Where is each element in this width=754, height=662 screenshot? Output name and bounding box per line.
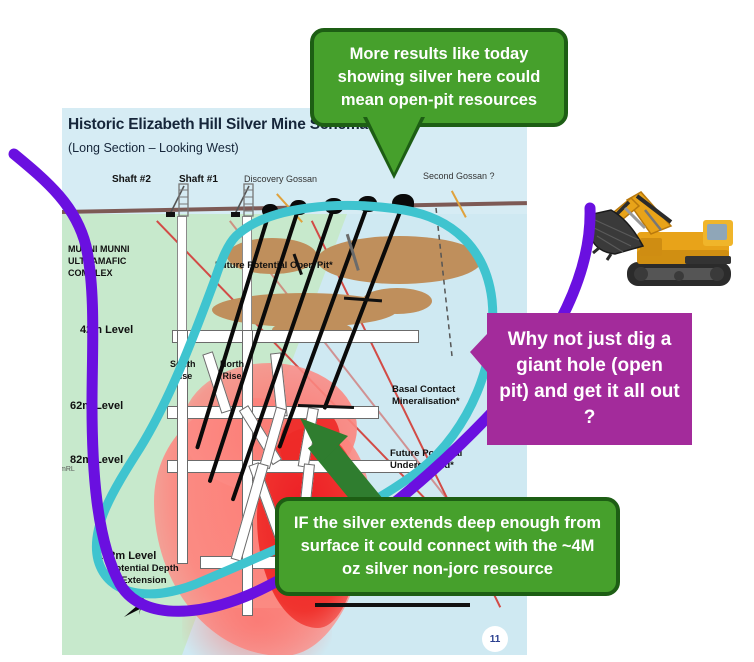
level-82m-drive (167, 460, 417, 473)
level-label-82m: 82m Level (70, 454, 123, 466)
future-underground-label: Future Potential Underground* (390, 448, 462, 472)
shaft-2-label: Shaft #2 (112, 174, 151, 185)
depth-extension-label: Potential Depth Extension (109, 563, 179, 587)
second-gossan-label: Second Gossan ? (423, 171, 495, 181)
basal-contact-label: Basal Contact Mineralisation* (392, 384, 460, 408)
slide-subtitle: (Long Section – Looking West) (68, 141, 239, 155)
excavator-image (585, 180, 745, 295)
level-label-42m: 42m Level (80, 324, 133, 336)
page-number-badge: 11 (482, 626, 508, 652)
projected-drill-hole (434, 208, 456, 358)
elevation-axis-label: mRL (62, 466, 75, 473)
lower-rise (242, 562, 253, 616)
callout-why-not-dig[interactable]: Why not just dig a giant hole (open pit)… (487, 313, 692, 445)
level-label-62m: 62m Level (70, 400, 123, 412)
host-complex-label: MUNNI MUNNI ULTRAMAFIC COMPLEX (68, 243, 130, 279)
top-callout-tail (367, 117, 421, 173)
level-label-102m: 102m Level (97, 550, 156, 562)
south-rise-label: South Rise (170, 358, 196, 382)
headframe-shaft-2-icon (162, 180, 208, 220)
scale-bar (315, 603, 470, 607)
depth-extension-arrow-icon (119, 591, 153, 621)
callout-silver-depth[interactable]: IF the silver extends deep enough from s… (275, 497, 620, 596)
shaft-1-label: Shaft #1 (179, 174, 218, 185)
callout-open-pit-resources[interactable]: More results like today showing silver h… (310, 28, 568, 127)
level-42m-drive (172, 330, 419, 343)
discovery-gossan-label: Discovery Gossan (244, 174, 317, 184)
